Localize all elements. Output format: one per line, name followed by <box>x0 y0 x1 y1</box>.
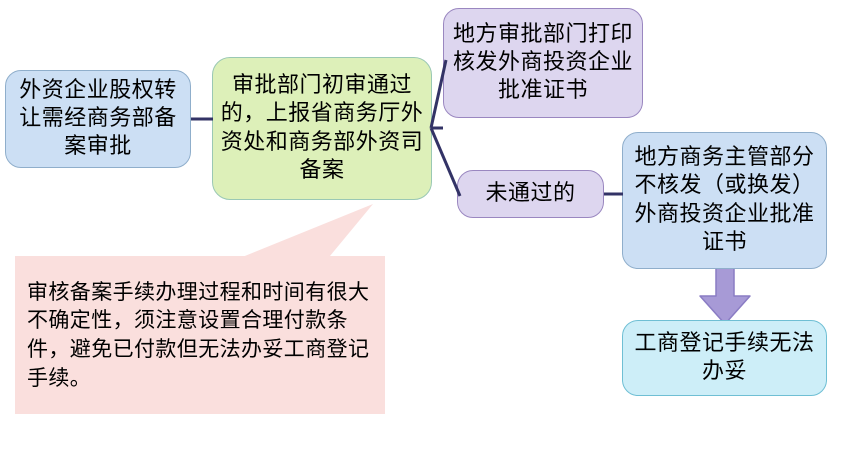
node-issue-certificate[interactable]: 地方审批部门打印核发外商投资企业批准证书 <box>443 8 643 118</box>
node-filing-approval[interactable]: 外资企业股权转让需经商务部备案审批 <box>5 70 191 168</box>
node-filing-approval-label: 外资企业股权转让需经商务部备案审批 <box>6 77 190 161</box>
node-registration-failed[interactable]: 工商登记手续无法办妥 <box>622 320 827 396</box>
node-registration-failed-label: 工商登记手续无法办妥 <box>623 330 826 386</box>
callout-note-text: 审核备案手续办理过程和时间有很大不确定性，须注意设置合理付款条件，避免已付款但无… <box>15 278 385 392</box>
node-issue-certificate-label: 地方审批部门打印核发外商投资企业批准证书 <box>444 21 642 105</box>
node-report-to-authorities[interactable]: 审批部门初审通过的，上报省商务厅外资处和商务部外资司备案 <box>212 57 432 200</box>
flowchart-canvas: 外资企业股权转让需经商务部备案审批 审批部门初审通过的，上报省商务厅外资处和商务… <box>0 0 845 451</box>
arrow-down-icon <box>690 262 760 326</box>
node-not-approved[interactable]: 未通过的 <box>457 170 604 218</box>
node-no-certificate-issued[interactable]: 地方商务主管部分不核发（或换发）外商投资企业批准证书 <box>622 132 827 269</box>
node-report-to-authorities-label: 审批部门初审通过的，上报省商务厅外资处和商务部外资司备案 <box>213 72 431 185</box>
callout-note[interactable]: 审核备案手续办理过程和时间有很大不确定性，须注意设置合理付款条件，避免已付款但无… <box>15 256 385 414</box>
node-not-approved-label: 未通过的 <box>458 180 603 208</box>
node-no-certificate-issued-label: 地方商务主管部分不核发（或换发）外商投资企业批准证书 <box>623 144 826 257</box>
